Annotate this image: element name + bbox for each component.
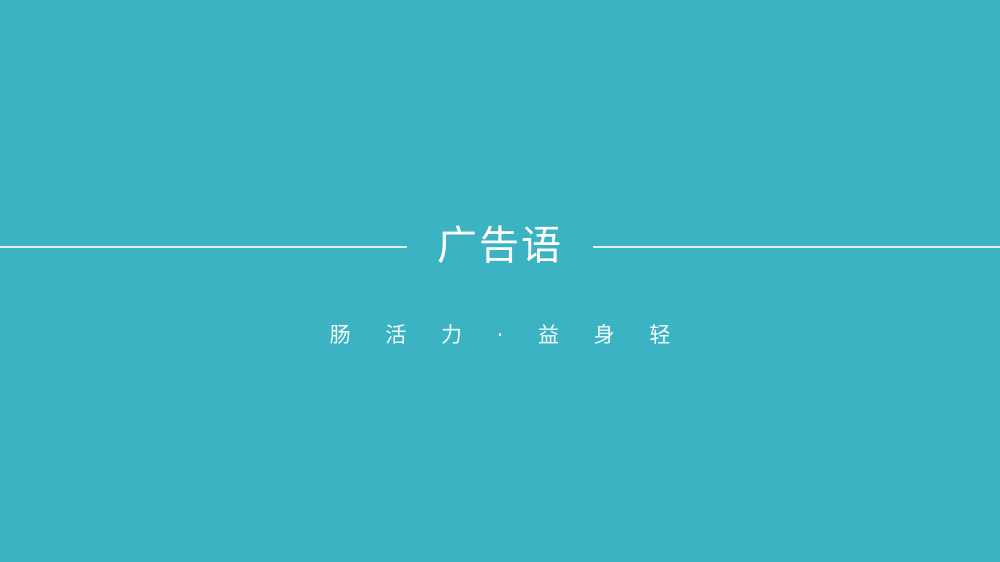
divider-rule-left	[0, 246, 407, 248]
presentation-slide: 广告语 肠 活 力 · 益 身 轻	[0, 0, 1000, 562]
divider-rule-right	[593, 246, 1000, 248]
slide-subtitle: 肠 活 力 · 益 身 轻	[0, 320, 1000, 350]
page-title: 广告语	[407, 226, 593, 266]
